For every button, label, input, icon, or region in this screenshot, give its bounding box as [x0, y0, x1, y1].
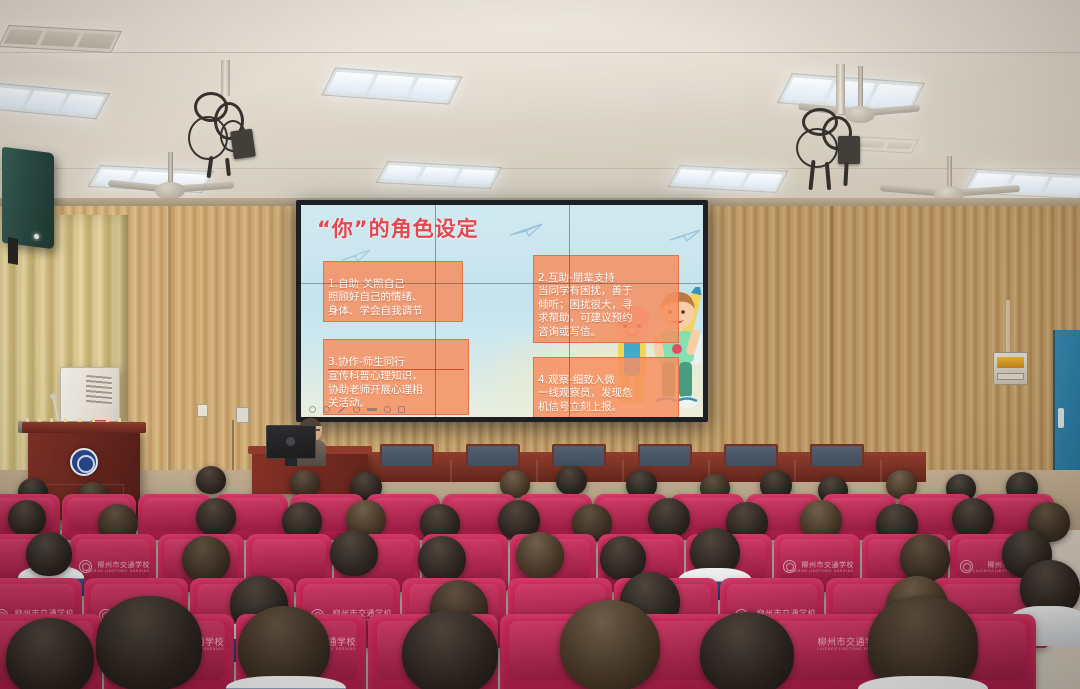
audience-head — [900, 534, 950, 582]
school-emblem — [70, 448, 98, 476]
wall-speaker — [2, 147, 54, 249]
control-panel-display — [997, 357, 1024, 368]
pen-icon[interactable] — [337, 406, 345, 413]
audience-head — [182, 536, 230, 582]
menu-icon[interactable] — [398, 406, 405, 413]
lectern-top — [22, 422, 146, 433]
audience-head — [8, 500, 46, 536]
paper-plane-icon — [509, 223, 543, 237]
chair-brand: 柳州市交通学校LIUZHOU JIAOTONG XUEXIAO — [774, 561, 860, 574]
stage-chair[interactable] — [466, 444, 520, 468]
audience-head — [700, 612, 794, 689]
audience-head — [196, 498, 236, 536]
audience-head — [196, 466, 226, 494]
slide-textbox-3-body: 宣传科普心理知识， 协助老师开展心理相 关活动。 — [328, 370, 423, 409]
audience-head — [6, 618, 94, 689]
slide-textbox-2-body: 当同学有困扰，善于 倾听；困扰很大，寻 求帮助，可建议预约 咨询或写信。 — [538, 285, 633, 338]
video-wall-bezel — [435, 205, 436, 417]
control-panel-slot — [997, 373, 1024, 380]
speaker-bracket — [8, 237, 18, 265]
presentation-slide[interactable]: “你”的角色设定 — [301, 205, 703, 417]
audience-head — [290, 470, 320, 497]
stage-chair[interactable] — [724, 444, 778, 468]
audience-head — [648, 498, 690, 538]
audience-head — [556, 466, 587, 495]
highlighter-icon[interactable] — [353, 406, 360, 413]
slide-textbox-4: 4.观察-细致入微一线观察员，发现危 机信号立刻上报。 — [533, 357, 679, 417]
video-wall-bezel — [301, 283, 703, 284]
slide-title: “你”的角色设定 — [317, 213, 479, 243]
chair-brand: 柳州市交通学校LIUZHOU JIAOTONG XUEXIAO — [70, 561, 156, 574]
audience-head — [96, 596, 202, 689]
ac-vent — [86, 375, 112, 405]
wall-conduit — [1006, 300, 1010, 356]
lcd-video-wall[interactable]: “你”的角色设定 — [296, 200, 708, 422]
audience-shoulders — [858, 676, 988, 689]
wall-seam — [168, 206, 171, 508]
projector-cable-bundle — [180, 60, 270, 170]
speaker-led — [34, 234, 39, 240]
presentation-controls[interactable] — [309, 406, 405, 413]
audience-head — [516, 532, 564, 578]
slide-textbox-1-body: 照顾好自己的情绪、 身体、学会自我调节 — [328, 291, 423, 317]
slide-textbox-2: 2.互助-朋辈支持当同学有困扰，善于 倾听；困扰很大，寻 求帮助，可建议预约 咨… — [533, 255, 679, 343]
pointer-icon[interactable] — [309, 406, 316, 413]
audience-head — [560, 600, 660, 689]
video-wall-bezel — [569, 205, 570, 417]
slide-textbox-4-body: 一线观察员，发现危 机信号立刻上报。 — [538, 387, 633, 413]
audience-head — [418, 536, 466, 582]
stage-chair[interactable] — [380, 444, 434, 468]
slide-textbox-1: 1.自助-关照自己照顾好自己的情绪、 身体、学会自我调节 — [323, 261, 463, 322]
stage-chair[interactable] — [810, 444, 864, 468]
stage-chair[interactable] — [552, 444, 606, 468]
zoom-icon[interactable] — [384, 406, 391, 413]
wall-outlet-plate[interactable] — [236, 407, 249, 423]
desktop-monitor[interactable] — [266, 425, 316, 459]
slide-textbox-3: 3.协作-师生同行宣传科普心理知识， 协助老师开展心理相 关活动。 — [323, 339, 469, 415]
stage-chair[interactable] — [638, 444, 692, 468]
audience-head — [330, 530, 378, 576]
auditorium-photo: “你”的角色设定 — [0, 0, 1080, 689]
laser-icon[interactable] — [323, 406, 330, 413]
ceiling-seam — [0, 52, 1080, 53]
door-handle[interactable] — [1058, 408, 1064, 428]
slide-textbox-4-header: 4.观察-细致入微 — [538, 374, 674, 388]
wall-control-panel[interactable] — [993, 352, 1028, 385]
audience-head — [952, 498, 994, 538]
slide-textbox-3-header: 3.协作-师生同行 — [328, 356, 464, 371]
projector-cable-bundle — [792, 64, 888, 184]
wall-switch-plate[interactable] — [197, 404, 208, 417]
paper-plane-icon — [669, 229, 701, 242]
slide-nav-icon[interactable] — [367, 408, 377, 411]
audience-shoulders — [226, 676, 346, 689]
audience-head — [26, 532, 72, 576]
audience-head — [402, 610, 498, 689]
